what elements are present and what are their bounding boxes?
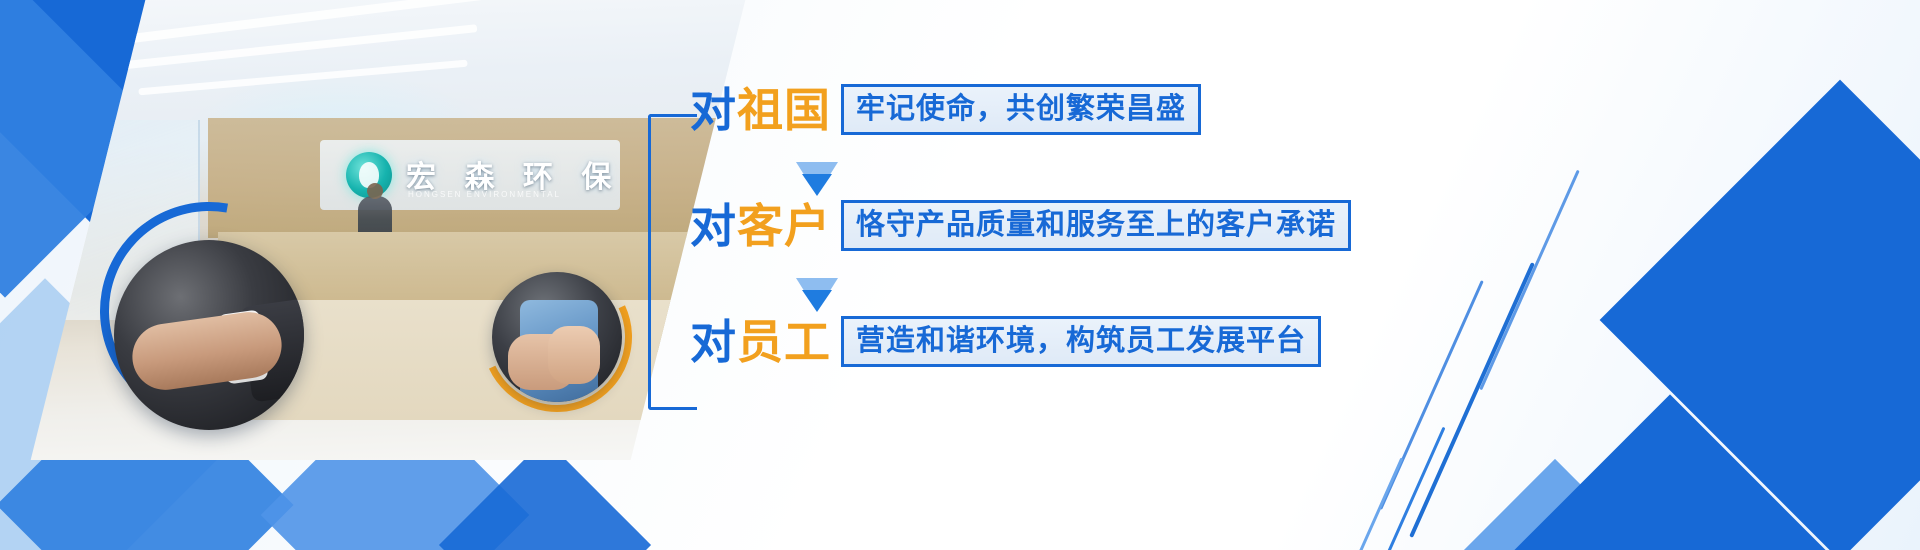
slogan-row-customer: 对客户 恪守产品质量和服务至上的客户承诺: [690, 200, 1351, 251]
slogan-lead-prefix: 对: [690, 315, 737, 369]
arrow-down-icon: [796, 162, 838, 196]
slogan-lead-prefix: 对: [690, 83, 737, 137]
arrow-top-part: [796, 278, 838, 290]
ceiling-band: [138, 60, 467, 96]
arrow-down-icon: [796, 278, 838, 312]
arrow-bottom-part: [802, 290, 832, 312]
slogan-row-country: 对祖国 牢记使命，共创繁荣昌盛: [690, 84, 1201, 135]
slogan-lead-customer: 对客户: [690, 203, 831, 249]
slogan-lead-prefix: 对: [690, 199, 737, 253]
clapping-hand-right: [548, 326, 600, 384]
arrow-bottom-part: [802, 174, 832, 196]
slogan-group: 对祖国 牢记使命，共创繁荣昌盛 对客户 恪守产品质量和服务至上的客户承诺 对员工…: [648, 84, 1548, 484]
slogan-row-employee: 对员工 营造和谐环境，构筑员工发展平台: [690, 316, 1321, 367]
arrow-top-part: [796, 162, 838, 174]
slogan-tag-employee: 营造和谐环境，构筑员工发展平台: [841, 316, 1321, 367]
slogan-tag-country: 牢记使命，共创繁荣昌盛: [841, 84, 1201, 135]
slogan-lead-keyword: 祖国: [737, 83, 831, 137]
slogan-lead-employee: 对员工: [690, 319, 831, 365]
corporate-culture-banner: 宏 森 环 保 HONGSEN ENVIRONMENTAL 对祖国 牢记使命，共…: [0, 0, 1920, 550]
handshake-photo-bubble: [114, 240, 304, 430]
slogan-lead-keyword: 客户: [737, 199, 831, 253]
applause-photo-bubble: [492, 272, 622, 402]
company-logo-pinyin: HONGSEN ENVIRONMENTAL: [408, 190, 561, 199]
slogan-tag-customer: 恪守产品质量和服务至上的客户承诺: [841, 200, 1351, 251]
slogan-lead-country: 对祖国: [690, 87, 831, 133]
slogan-lead-keyword: 员工: [737, 315, 831, 369]
